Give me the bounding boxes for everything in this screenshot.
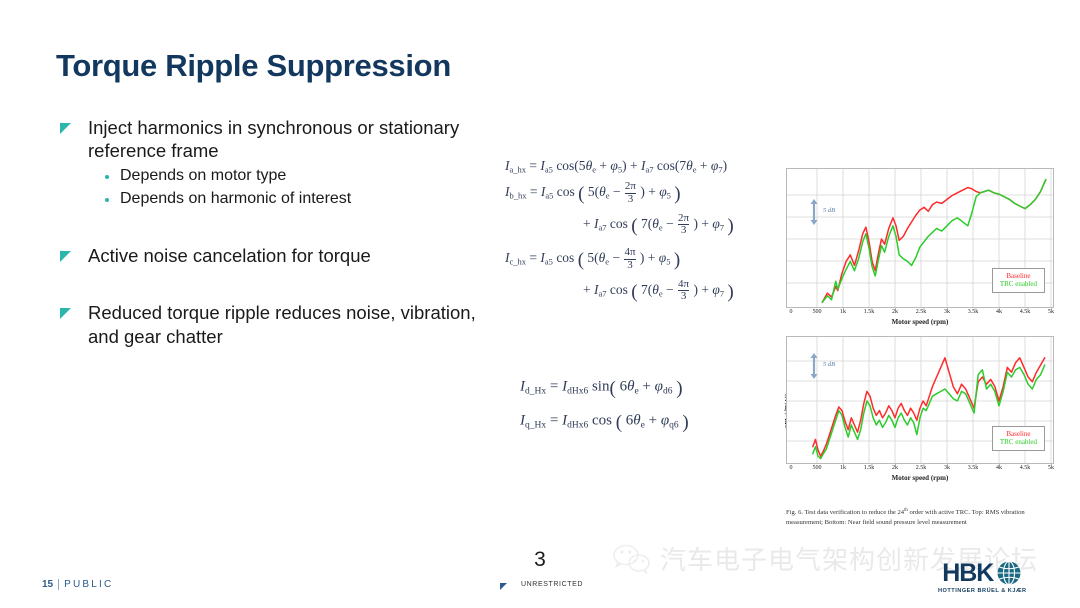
x-tick-label: 4k (996, 465, 1002, 471)
sub-bullet-list: Depends on motor type Depends on harmoni… (105, 166, 490, 211)
dot-bullet-icon (105, 198, 109, 202)
x-tick-label: 0 (790, 309, 793, 315)
chart-x-axis: 05001k1.5k2k2.5k3k3.5k4k4.5k5k Motor spe… (786, 464, 1054, 486)
bullet-list: Inject harmonics in synchronous or stati… (60, 116, 490, 372)
logo-wordmark: HBK (942, 561, 993, 586)
figure-panel: Vibration (dB) 5 dB Baseline TRC enabled… (786, 168, 1054, 486)
x-tick-label: 2k (892, 309, 898, 315)
triangle-bullet-icon (500, 583, 507, 590)
logo-tagline: HOTTINGER BRÜEL & KJÆR (938, 588, 1027, 594)
chart-vibration: Vibration (dB) 5 dB Baseline TRC enabled… (786, 168, 1054, 330)
globe-icon (996, 560, 1022, 586)
x-tick-label: 4.5k (1020, 309, 1031, 315)
footer-classification-label: PUBLIC (64, 579, 113, 590)
x-tick-label: 1k (840, 309, 846, 315)
chart-x-axis: 05001k1.5k2k2.5k3k3.5k4k4.5k5k Motor spe… (786, 308, 1054, 330)
list-item: Active noise cancelation for torque (60, 244, 490, 267)
classification-text: UNRESTRICTED (521, 580, 577, 589)
list-item: Inject harmonics in synchronous or stati… (60, 116, 490, 163)
equation-ic-cont: + Ia7 cos ( 7(θe − 4π3 ) + φ7 ) (505, 279, 785, 303)
chart-legend: Baseline TRC enabled (992, 268, 1045, 294)
chart-x-tick-labels: 05001k1.5k2k2.5k3k3.5k4k4.5k5k (786, 464, 1054, 473)
legend-item-trc: TRC enabled (1000, 438, 1037, 447)
annotation-arrow-icon (809, 199, 819, 225)
equation-ic: Ic_hx = Ia5 cos ( 5(θe − 4π3 ) + φ5 ) (505, 247, 785, 271)
chart-annotation-5db: 5 dB (823, 361, 835, 368)
bullet-group: Inject harmonics in synchronous or stati… (60, 116, 490, 210)
x-tick-label: 0 (790, 465, 793, 471)
equation-ib: Ib_hx = Ia5 cos ( 5(θe − 2π3 ) + φ5 ) (505, 181, 785, 205)
x-tick-label: 2k (892, 465, 898, 471)
hbk-logo: HBK HOTTINGER BRÜEL & KJÆR (938, 560, 1027, 594)
equation-iq: Iq_Hx = IdHx6 cos ( 6θe + φq6 ) (520, 412, 790, 434)
x-tick-label: 1.5k (864, 309, 875, 315)
chart-annotation-5db: 5 dB (823, 207, 835, 214)
page-title: Torque Ripple Suppression (56, 48, 451, 84)
annotation-arrow-icon (809, 353, 819, 379)
sub-list-item: Depends on motor type (105, 166, 490, 187)
x-tick-label: 3.5k (968, 309, 979, 315)
triangle-bullet-icon (60, 123, 71, 134)
x-tick-label: 5k (1048, 465, 1054, 471)
equation-block-abc: Ia_hx = Ia5 cos(5θe + φ5) + Ia7 cos(7θe … (505, 158, 785, 310)
figure-caption: Fig. 6. Test data verification to reduce… (786, 508, 1058, 527)
equation-block-dq: Id_Hx = IdHx6 sin( 6θe + φd6 ) Iq_Hx = I… (520, 378, 790, 446)
x-tick-label: 4.5k (1020, 465, 1031, 471)
triangle-bullet-icon (60, 308, 71, 319)
chart-spl: SPL (dB(A)) 5 dB Baseline TRC enabled 05… (786, 336, 1054, 486)
bullet-group: Active noise cancelation for torque (60, 244, 490, 267)
x-tick-label: 5k (1048, 309, 1054, 315)
x-tick-label: 2.5k (916, 309, 927, 315)
bullet-text: Reduced torque ripple reduces noise, vib… (88, 301, 490, 348)
sub-list-item: Depends on harmonic of interest (105, 189, 490, 210)
sub-bullet-text: Depends on harmonic of interest (120, 189, 351, 210)
equation-ia: Ia_hx = Ia5 cos(5θe + φ5) + Ia7 cos(7θe … (505, 158, 785, 174)
legend-item-baseline: Baseline (1000, 272, 1037, 281)
legend-item-baseline: Baseline (1000, 430, 1037, 439)
classification-marking: UNRESTRICTED (500, 580, 620, 590)
slide-number: 3 (0, 548, 1080, 572)
chart-legend: Baseline TRC enabled (992, 426, 1045, 452)
x-tick-label: 500 (813, 309, 822, 315)
equation-id: Id_Hx = IdHx6 sin( 6θe + φd6 ) (520, 378, 790, 400)
bullet-group: Reduced torque ripple reduces noise, vib… (60, 301, 490, 348)
caption-main: Fig. 6. Test data verification to reduce… (786, 509, 904, 516)
x-tick-label: 500 (813, 465, 822, 471)
x-tick-label: 1.5k (864, 465, 875, 471)
equation-ib-cont: + Ia7 cos ( 7(θe − 2π3 ) + φ7 ) (505, 213, 785, 237)
list-item: Reduced torque ripple reduces noise, vib… (60, 301, 490, 348)
x-tick-label: 2.5k (916, 465, 927, 471)
dot-bullet-icon (105, 175, 109, 179)
bullet-text: Active noise cancelation for torque (88, 244, 371, 267)
x-tick-label: 3k (944, 309, 950, 315)
x-tick-label: 3.5k (968, 465, 979, 471)
chart-x-axis-label: Motor speed (rpm) (786, 474, 1054, 482)
chart-x-axis-label: Motor speed (rpm) (786, 318, 1054, 326)
bullet-text: Inject harmonics in synchronous or stati… (88, 116, 490, 163)
x-tick-label: 1k (840, 465, 846, 471)
sub-bullet-text: Depends on motor type (120, 166, 286, 187)
footer-divider (58, 579, 59, 590)
triangle-bullet-icon (60, 251, 71, 262)
footer-page-number: 15 (42, 579, 53, 590)
chart-x-tick-labels: 05001k1.5k2k2.5k3k3.5k4k4.5k5k (786, 308, 1054, 317)
legend-item-trc: TRC enabled (1000, 280, 1037, 289)
footer-left: 15 PUBLIC (42, 579, 113, 590)
x-tick-label: 3k (944, 465, 950, 471)
x-tick-label: 4k (996, 309, 1002, 315)
